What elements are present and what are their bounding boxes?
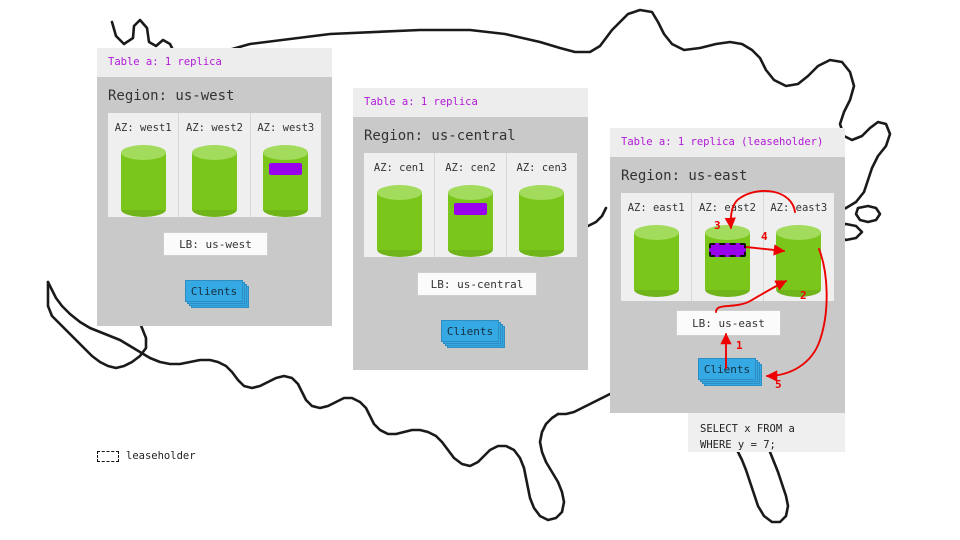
az-label: AZ: west1 [115,122,172,134]
legend: leaseholder [97,450,196,462]
az-row: AZ: east1 AZ: east2 AZ: east3 [621,193,834,301]
step-number-1: 1 [736,339,743,352]
load-balancer-label: LB: us-west [179,238,252,251]
region-replica-header: Table a: 1 replica [353,88,588,117]
replica-cylinder[interactable] [776,225,821,297]
load-balancer-box[interactable]: LB: us-central [417,272,537,296]
az-cell-cen2[interactable]: AZ: cen2 [434,153,505,257]
cylinder-top [448,185,493,200]
cylinder-body [263,152,308,210]
az-label: AZ: west2 [186,122,243,134]
load-balancer-box[interactable]: LB: us-west [163,232,268,256]
clients-stack[interactable]: Clients [698,358,762,386]
cylinder-top [776,225,821,240]
leaseholder-band [709,243,746,257]
region-panel-us-central: Table a: 1 replica Region: us-central AZ… [353,88,588,370]
load-balancer-label: LB: us-east [692,317,765,330]
step-number-3: 3 [714,219,721,232]
replica-band [454,203,487,215]
az-cell-cen1[interactable]: AZ: cen1 [364,153,434,257]
clients-front[interactable]: Clients [441,320,499,342]
cylinder-top [634,225,679,240]
replica-cylinder[interactable] [192,145,237,217]
load-balancer-label: LB: us-central [431,278,524,291]
clients-label: Clients [191,285,237,298]
diagram-canvas: Table a: 1 replica Region: us-west AZ: w… [0,0,960,540]
az-label: AZ: cen1 [374,162,425,174]
step-number-5: 5 [775,378,782,391]
cylinder-top [121,145,166,160]
cylinder-body [448,192,493,250]
az-label: AZ: east1 [628,202,685,214]
replica-cylinder[interactable] [705,225,750,297]
clients-label: Clients [447,325,493,338]
az-cell-west1[interactable]: AZ: west1 [108,113,178,217]
step-number-2: 2 [800,289,807,302]
az-label: AZ: cen2 [445,162,496,174]
replica-cylinder[interactable] [448,185,493,257]
cylinder-top [519,185,564,200]
replica-band [269,163,302,175]
region-replica-header: Table a: 1 replica (leaseholder) [610,128,845,157]
leaseholder-swatch-icon [97,451,119,462]
sql-query-box: SELECT x FROM a WHERE y = 7; [688,413,845,452]
az-cell-east1[interactable]: AZ: east1 [621,193,691,301]
region-replica-header: Table a: 1 replica [97,48,332,77]
replica-cylinder[interactable] [519,185,564,257]
clients-label: Clients [704,363,750,376]
legend-label: leaseholder [126,450,196,462]
cylinder-body [192,152,237,210]
region-title: Region: us-east [610,157,845,193]
replica-cylinder[interactable] [263,145,308,217]
clients-stack[interactable]: Clients [441,320,505,348]
replica-cylinder[interactable] [377,185,422,257]
region-title: Region: us-central [353,117,588,153]
cylinder-body [776,232,821,290]
az-label: AZ: west3 [257,122,314,134]
region-title: Region: us-west [97,77,332,113]
cylinder-top [192,145,237,160]
cylinder-top [705,225,750,240]
replica-cylinder[interactable] [121,145,166,217]
cylinder-body [634,232,679,290]
az-cell-cen3[interactable]: AZ: cen3 [506,153,577,257]
az-cell-west2[interactable]: AZ: west2 [178,113,249,217]
step-number-4: 4 [761,230,768,243]
clients-stack[interactable]: Clients [185,280,249,308]
cylinder-body [121,152,166,210]
clients-front[interactable]: Clients [698,358,756,380]
az-label: AZ: cen3 [517,162,568,174]
cylinder-body [377,192,422,250]
az-cell-east3[interactable]: AZ: east3 [763,193,834,301]
az-cell-west3[interactable]: AZ: west3 [250,113,321,217]
cylinder-top [377,185,422,200]
az-label: AZ: east3 [770,202,827,214]
region-panel-us-east: Table a: 1 replica (leaseholder) Region:… [610,128,845,413]
az-cell-east2[interactable]: AZ: east2 [691,193,762,301]
az-row: AZ: cen1 AZ: cen2 AZ: cen3 [364,153,577,257]
cylinder-body [705,232,750,290]
region-panel-us-west: Table a: 1 replica Region: us-west AZ: w… [97,48,332,326]
az-label: AZ: east2 [699,202,756,214]
cylinder-body [519,192,564,250]
load-balancer-box[interactable]: LB: us-east [676,310,781,336]
cylinder-top [263,145,308,160]
sql-query-text: SELECT x FROM a WHERE y = 7; [700,423,795,451]
clients-front[interactable]: Clients [185,280,243,302]
az-row: AZ: west1 AZ: west2 AZ: west3 [108,113,321,217]
replica-cylinder[interactable] [634,225,679,297]
